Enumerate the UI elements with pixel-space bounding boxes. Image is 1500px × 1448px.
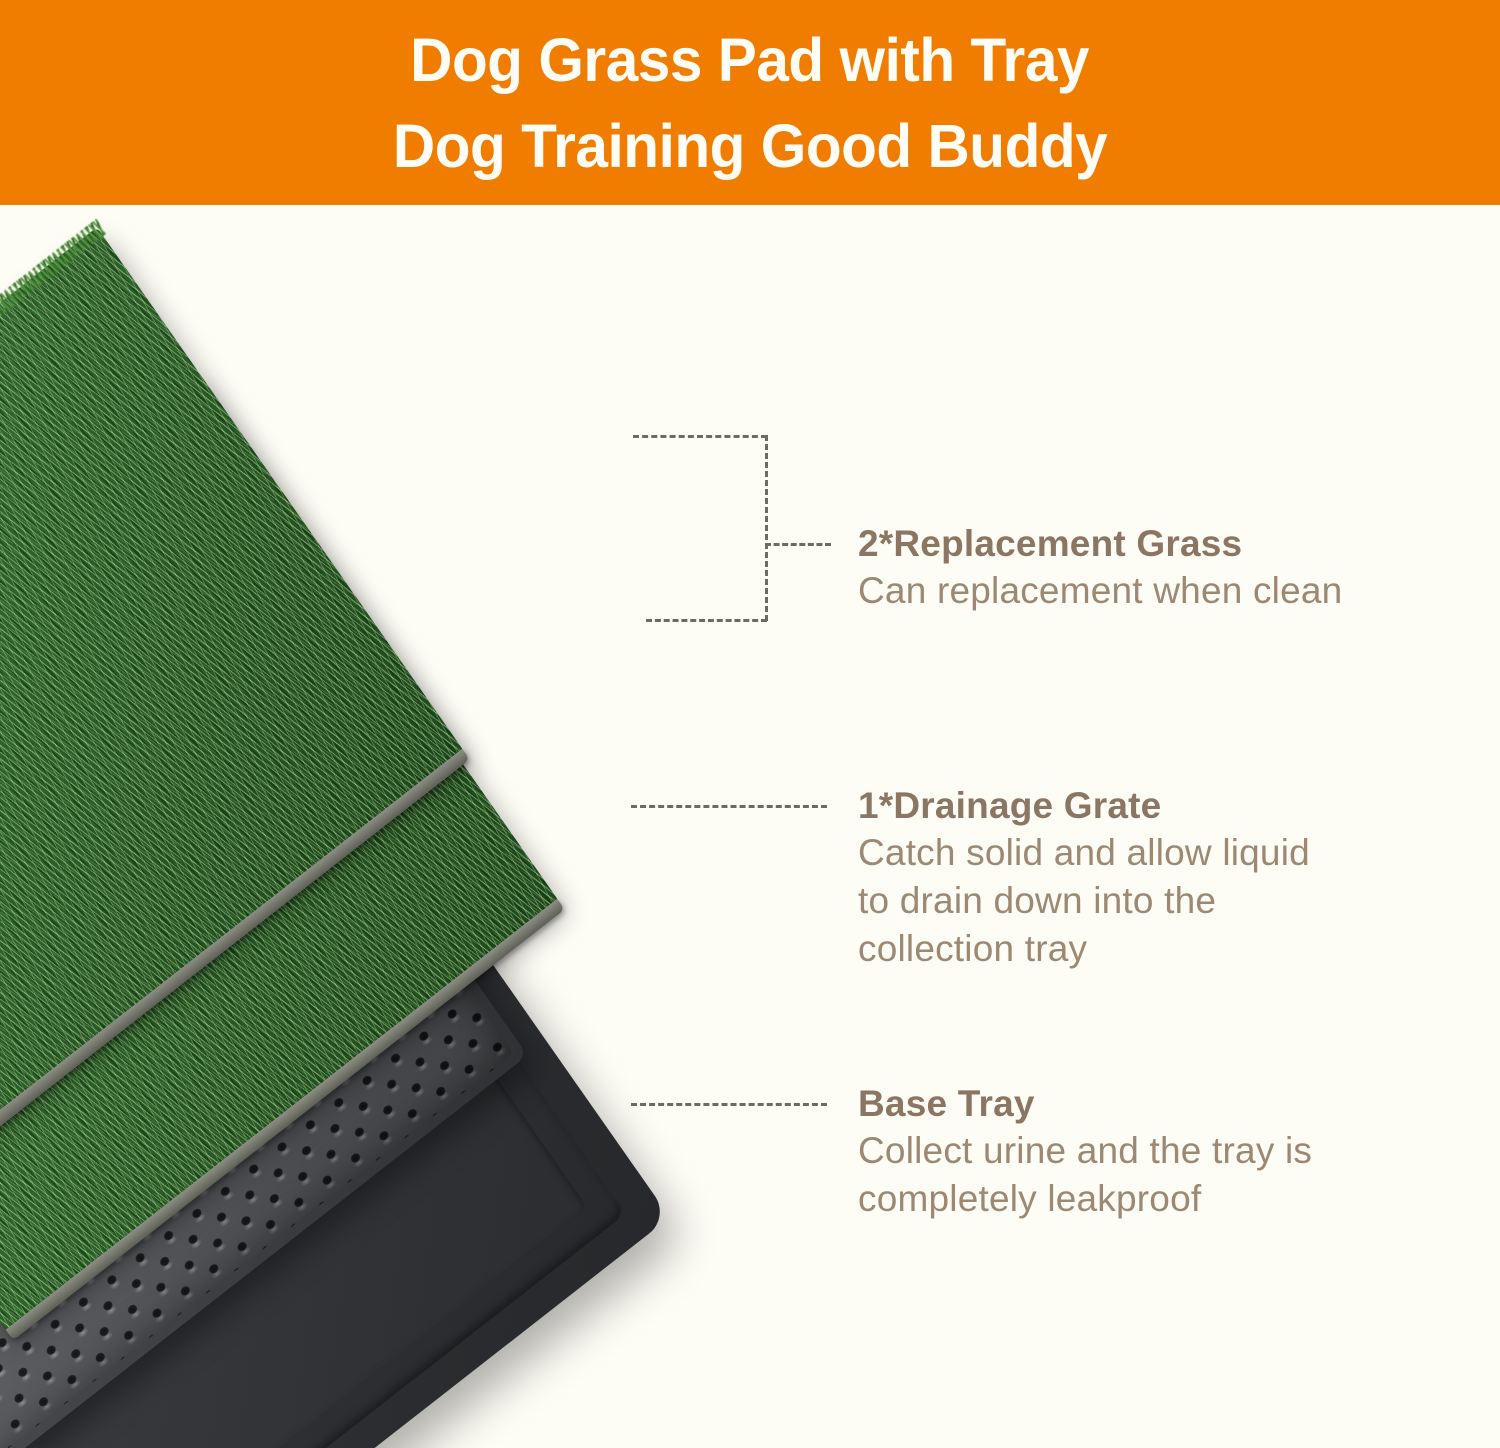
callout-body-line: Collect urine and the tray is: [858, 1127, 1312, 1175]
callout-title-base-tray: Base Tray: [858, 1081, 1312, 1127]
callout-body-line: collection tray: [858, 925, 1310, 973]
connector-drainage-grate: [631, 805, 827, 808]
callout-base-tray: Base Tray Collect urine and the tray is …: [858, 1081, 1312, 1223]
callout-body-line: to drain down into the: [858, 877, 1310, 925]
header-banner: Dog Grass Pad with Tray Dog Training Goo…: [0, 0, 1500, 205]
callout-drainage-grate: 1*Drainage Grate Catch solid and allow l…: [858, 783, 1310, 973]
callout-body-line: Can replacement when clean: [858, 567, 1342, 615]
callout-replacement-grass: 2*Replacement Grass Can replacement when…: [858, 521, 1342, 615]
bracket-bottom-segment: [646, 619, 767, 622]
product-infographic: Dog Grass Pad with Tray Dog Training Goo…: [0, 0, 1500, 1448]
bracket-stem-segment: [765, 543, 831, 546]
callout-body-line: completely leakproof: [858, 1175, 1312, 1223]
product-layer-stack: [0, 205, 740, 1448]
callout-title-drainage-grate: 1*Drainage Grate: [858, 783, 1310, 829]
callout-body-replacement-grass: Can replacement when clean: [858, 567, 1342, 615]
callout-title-replacement-grass: 2*Replacement Grass: [858, 521, 1342, 567]
grass-fringe-upper: [0, 219, 106, 670]
product-photo: [0, 205, 740, 1448]
page-title-line-2: Dog Training Good Buddy: [393, 103, 1107, 189]
connector-base-tray: [631, 1103, 827, 1106]
page-title-line-1: Dog Grass Pad with Tray: [411, 17, 1090, 103]
callout-body-line: Catch solid and allow liquid: [858, 829, 1310, 877]
callout-body-drainage-grate: Catch solid and allow liquid to drain do…: [858, 829, 1310, 973]
callout-body-base-tray: Collect urine and the tray is completely…: [858, 1127, 1312, 1223]
bracket-spine-segment: [765, 435, 768, 621]
bracket-top-segment: [633, 435, 767, 438]
